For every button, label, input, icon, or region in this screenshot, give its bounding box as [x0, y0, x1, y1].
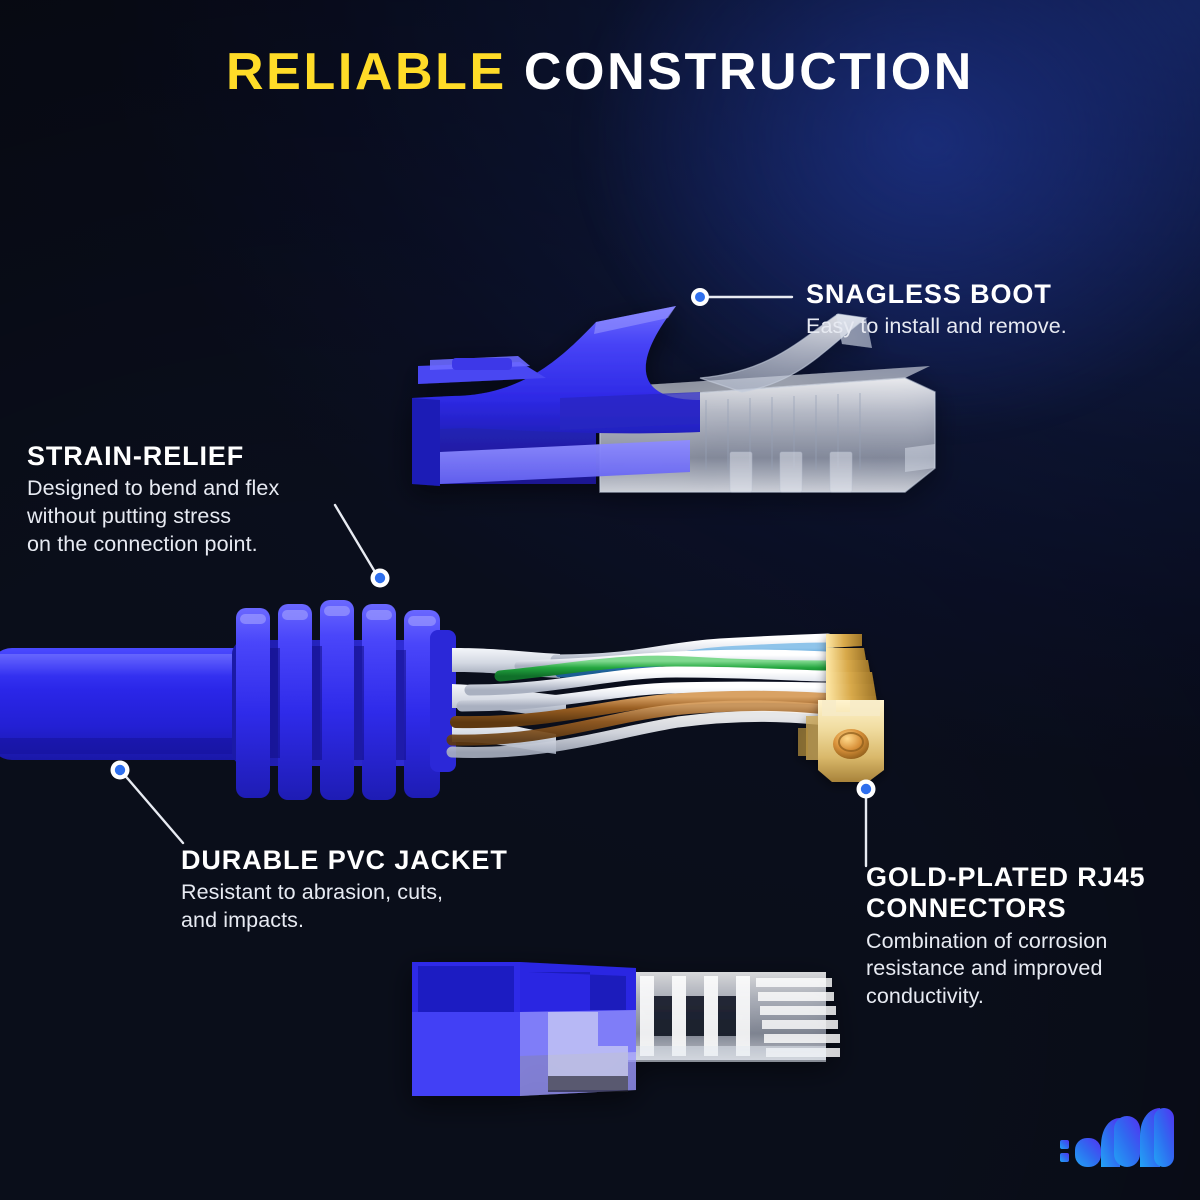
page-title: RELIABLE CONSTRUCTION — [0, 46, 1200, 98]
callout-body: Combination of corrosion resistance and … — [866, 928, 1145, 1011]
logo-dot-top — [1060, 1140, 1069, 1149]
title-accent-word: RELIABLE — [226, 43, 507, 101]
callout-snagless-boot: SNAGLESS BOOT Easy to install and remove… — [806, 279, 1067, 341]
marker-pvc-jacket — [111, 761, 130, 780]
callout-body: Designed to bend and flex without puttin… — [27, 475, 279, 558]
callout-body: Resistant to abrasion, cuts, and impacts… — [181, 879, 508, 934]
marker-gold-rj45 — [857, 780, 876, 799]
marker-strain-relief — [371, 569, 390, 588]
leader-line-strain-relief — [335, 505, 378, 577]
callout-heading: STRAIN-RELIEF — [27, 441, 279, 472]
marker-snagless-boot — [691, 288, 709, 306]
logo-bar-2 — [1114, 1116, 1140, 1167]
callout-heading: DURABLE PVC JACKET — [181, 845, 508, 876]
callout-heading: SNAGLESS BOOT — [806, 279, 1067, 310]
callout-heading: GOLD-PLATED RJ45 CONNECTORS — [866, 862, 1145, 925]
leader-line-pvc-jacket — [122, 772, 183, 843]
infographic-canvas: RELIABLE CONSTRUCTION SNAGLESS BOOT Easy… — [0, 0, 1200, 1200]
logo-bar-3 — [1154, 1108, 1174, 1167]
brand-logo — [1058, 1106, 1176, 1178]
callout-body: Easy to install and remove. — [806, 313, 1067, 341]
callout-gold-plated-rj45-connectors: GOLD-PLATED RJ45 CONNECTORS Combination … — [866, 862, 1145, 1011]
callout-durable-pvc-jacket: DURABLE PVC JACKET Resistant to abrasion… — [181, 845, 508, 935]
title-main-word: CONSTRUCTION — [524, 43, 974, 101]
logo-bar-1 — [1075, 1138, 1101, 1167]
callout-strain-relief: STRAIN-RELIEF Designed to bend and flex … — [27, 441, 279, 559]
callout-leader-lines — [0, 0, 1200, 1200]
logo-dot-bottom — [1060, 1153, 1069, 1162]
